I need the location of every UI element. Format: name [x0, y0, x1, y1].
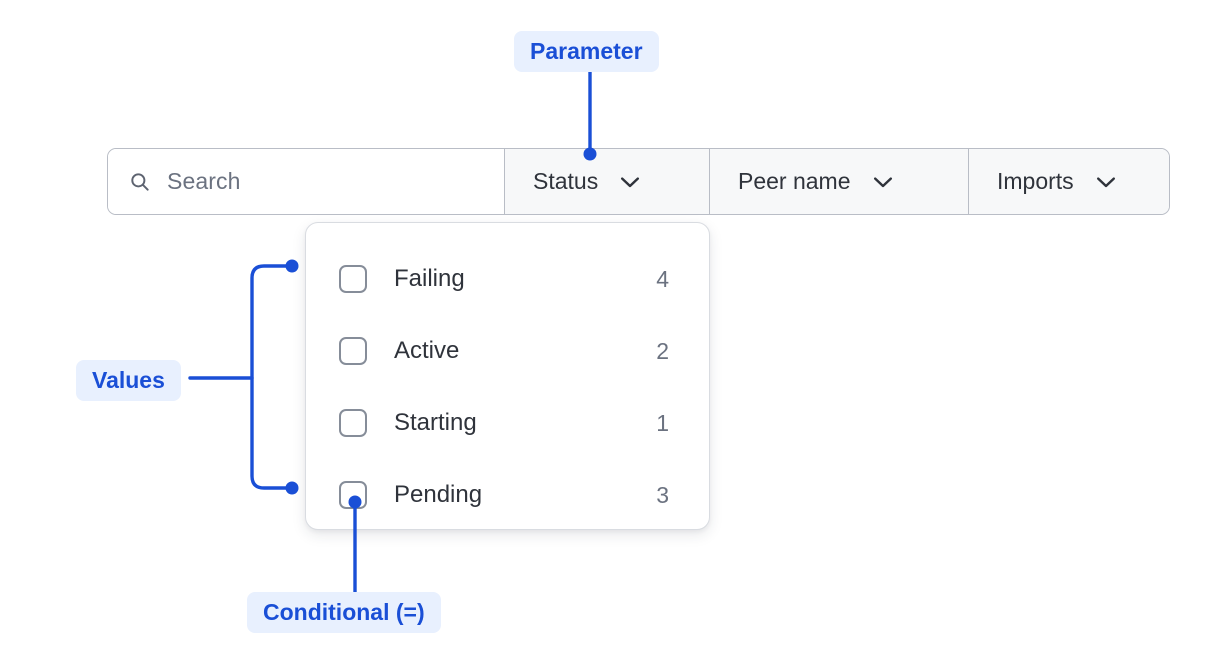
search-field[interactable]: Search — [108, 149, 505, 214]
values-anchor-dot-top — [286, 260, 299, 273]
annotation-badge-values: Values — [76, 360, 181, 401]
dropdown-option-label: Active — [394, 337, 656, 365]
annotation-badge-conditional: Conditional (=) — [247, 592, 441, 633]
peer-name-filter-button[interactable]: Peer name — [710, 149, 969, 214]
dropdown-option-count: 2 — [656, 338, 669, 365]
search-icon — [129, 171, 151, 193]
failing-checkbox[interactable] — [339, 265, 367, 293]
dropdown-option-pending[interactable]: Pending 3 — [306, 459, 709, 531]
chevron-down-icon — [873, 176, 893, 188]
status-filter-label: Status — [533, 168, 598, 195]
starting-checkbox[interactable] — [339, 409, 367, 437]
dropdown-option-list: Failing 4 Active 2 Starting 1 Pending 3 — [305, 222, 710, 530]
peer-name-filter-label: Peer name — [738, 168, 851, 195]
status-filter-button[interactable]: Status — [505, 149, 710, 214]
imports-filter-label: Imports — [997, 168, 1074, 195]
dropdown-option-active[interactable]: Active 2 — [306, 315, 709, 387]
chevron-down-icon — [620, 176, 640, 188]
imports-filter-button[interactable]: Imports — [969, 149, 1169, 214]
values-anchor-dot-bottom — [286, 482, 299, 495]
dropdown-option-count: 4 — [656, 266, 669, 293]
dropdown-option-failing[interactable]: Failing 4 — [306, 243, 709, 315]
annotated-filter-bar-diagram: Search Status Peer name Imports Failing — [0, 0, 1224, 660]
chevron-down-icon — [1096, 176, 1116, 188]
filter-toolbar: Search Status Peer name Imports — [107, 148, 1170, 215]
dropdown-option-label: Pending — [394, 481, 656, 509]
search-input-placeholder: Search — [167, 168, 240, 195]
dropdown-option-label: Failing — [394, 265, 656, 293]
dropdown-option-label: Starting — [394, 409, 656, 437]
pending-checkbox[interactable] — [339, 481, 367, 509]
annotation-badge-parameter: Parameter — [514, 31, 659, 72]
dropdown-option-count: 3 — [656, 482, 669, 509]
active-checkbox[interactable] — [339, 337, 367, 365]
values-bracket-line — [252, 266, 292, 488]
dropdown-option-starting[interactable]: Starting 1 — [306, 387, 709, 459]
dropdown-option-count: 1 — [656, 410, 669, 437]
